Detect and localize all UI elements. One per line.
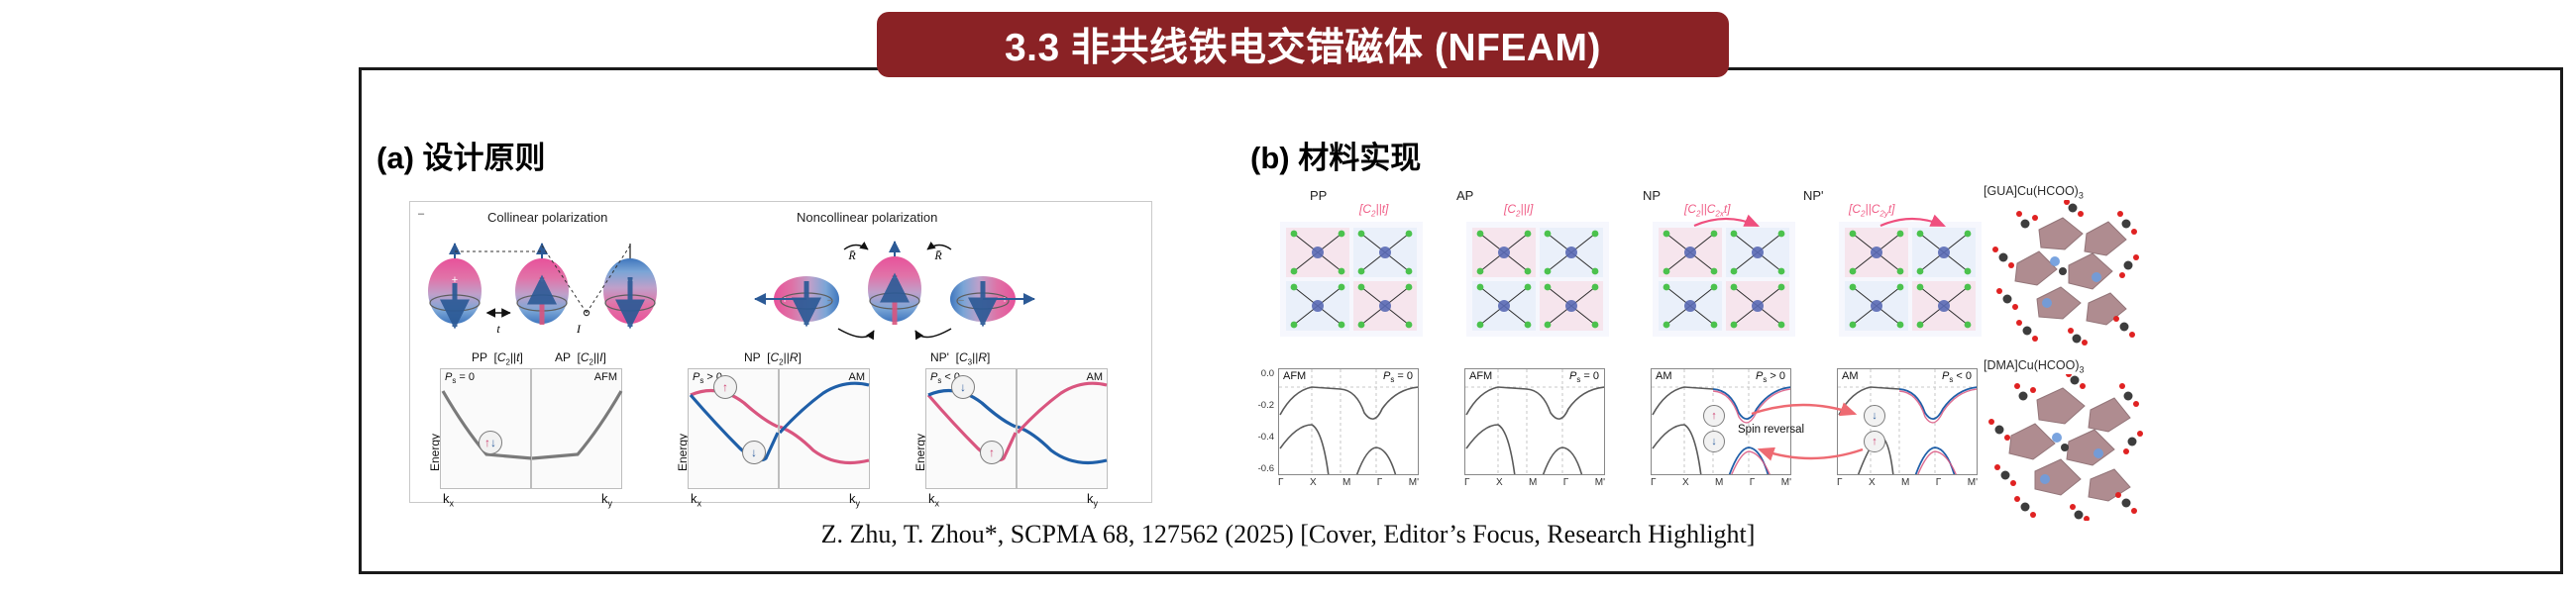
svg-text:–: – <box>827 295 833 306</box>
section-title-banner: 3.3 非共线铁电交错磁体 (NFEAM) <box>877 12 1729 77</box>
panel-a-corner-mark: – <box>418 208 424 220</box>
band-ytick-2: -0.4 <box>1248 432 1274 443</box>
column-header-ap: AP <box>1456 188 1473 203</box>
energy-xaxis-ky-2: ky <box>849 491 860 509</box>
section-title-text: 3.3 非共线铁电交错磁体 (NFEAM) <box>1005 17 1601 72</box>
panel-b-lattice-schematics <box>1268 210 2021 348</box>
svg-text:–: – <box>958 295 964 306</box>
spin-badge-up-1: ↑ <box>1703 405 1725 427</box>
band-ytick-3: -0.6 <box>1248 463 1274 474</box>
phase-label-pp: PP [C2||t] <box>472 350 523 366</box>
energy-plot-pp: Ps = 0 ↑↓ <box>440 368 531 489</box>
panel-a-figure: – Collinear polarization Noncollinear po… <box>409 201 1152 503</box>
band-plot-1: AFM Ps = 0 <box>1278 368 1419 475</box>
svg-text:R̄: R̄ <box>847 248 856 262</box>
energy-xaxis-ky-3: ky <box>1087 491 1098 509</box>
energy-xaxis-kx-3: kx <box>928 491 939 509</box>
energy-xaxis-kx-2: kx <box>691 491 701 509</box>
structure-formula-gua: [GUA]Cu(HCOO)3 <box>1984 184 2084 201</box>
band-plot-2: AFM Ps = 0 <box>1464 368 1605 475</box>
spin-badge-down-1: ↓ <box>1703 431 1725 452</box>
energy-plot-np-left: Ps > 0 ↑ ↓ <box>688 368 779 489</box>
band-xticks-1: Γ X M Γ M' <box>1278 477 1419 488</box>
column-header-np: NP <box>1643 188 1661 203</box>
crystal-structure-gua <box>1978 200 2151 346</box>
energy-plot-npp-right: AM <box>1017 368 1108 489</box>
spin-reversal-label: Spin reversal <box>1738 424 1804 436</box>
column-header-np-prime: NP' <box>1803 188 1824 203</box>
crystal-structure-dma <box>1978 374 2151 521</box>
panel-a-caption: (a) 设计原则 <box>376 133 546 177</box>
svg-text:t: t <box>496 322 500 336</box>
panel-b-figure: PP [C2||t] AP [C2||I] NP [C2||C2xt] NP' … <box>1268 188 2190 505</box>
svg-text:+: + <box>1002 295 1008 306</box>
spin-badge-down-2: ↓ <box>1864 405 1885 427</box>
column-header-pp: PP <box>1310 188 1327 203</box>
energy-xaxis-kx-1: kx <box>443 491 454 509</box>
band-xticks-4: Γ X M Γ M' <box>1837 477 1978 488</box>
phase-label-ap: AP [C2||I] <box>555 350 606 366</box>
band-ytick-0: 0.0 <box>1248 368 1274 379</box>
phase-label-np-prime: NP' [C3||R] <box>930 350 990 366</box>
band-ytick-1: -0.2 <box>1248 400 1274 411</box>
band-plot-4: AM Ps < 0 ↓ ↑ <box>1837 368 1978 475</box>
structure-formula-dma: [DMA]Cu(HCOO)3 <box>1984 358 2085 375</box>
band-xticks-3: Γ X M Γ M' <box>1651 477 1791 488</box>
slide-root: 3.3 非共线铁电交错磁体 (NFEAM) (a) 设计原则 (b) 材料实现 … <box>0 0 2576 594</box>
svg-text:+: + <box>782 295 788 306</box>
svg-text:R̄: R̄ <box>933 248 942 262</box>
band-plot-3: AM Ps > 0 ↑ ↓ <box>1651 368 1791 475</box>
phase-label-np: NP [C2||R] <box>744 350 802 366</box>
band-xticks-2: Γ X M Γ M' <box>1464 477 1605 488</box>
energy-plot-np-right: AM <box>779 368 870 489</box>
svg-text:I: I <box>576 322 582 336</box>
energy-plot-ap: AFM <box>531 368 622 489</box>
energy-xaxis-ky-1: ky <box>601 491 612 509</box>
citation-text: Z. Zhu, T. Zhou*, SCPMA 68, 127562 (2025… <box>0 520 2576 549</box>
panel-a-orbital-schematic: + + t – <box>410 222 1153 370</box>
energy-plot-npp-left: Ps < 0 ↓ ↑ <box>925 368 1017 489</box>
spin-badge-up-2: ↑ <box>1864 431 1885 452</box>
panel-b-caption: (b) 材料实现 <box>1250 133 1421 177</box>
